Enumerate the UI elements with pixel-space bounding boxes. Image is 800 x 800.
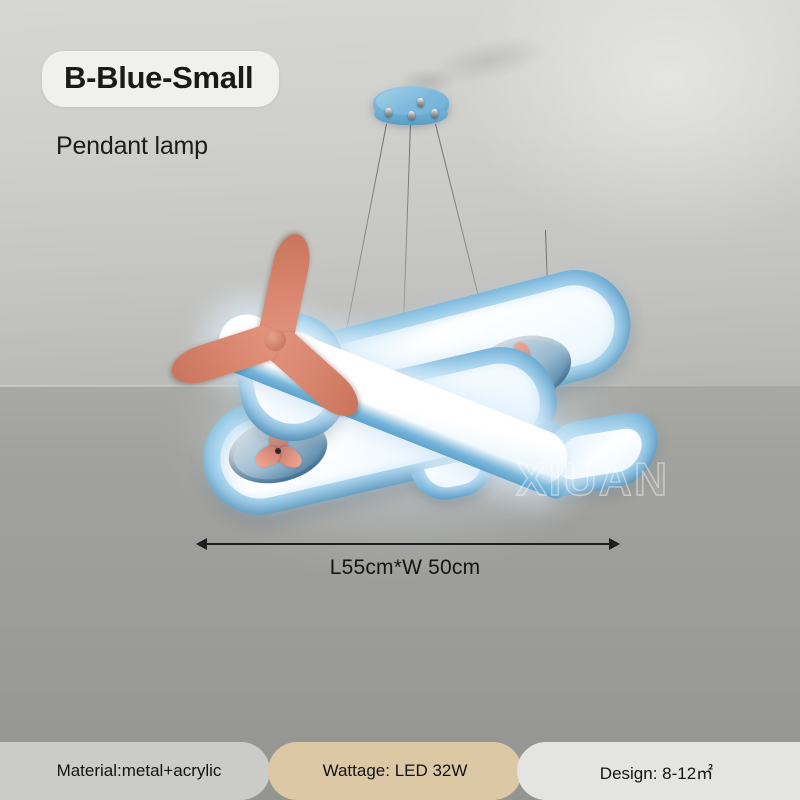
arrow-head-right-icon: [609, 538, 620, 550]
variant-badge-label: B-Blue-Small: [64, 60, 253, 95]
front-propeller-hub: [264, 329, 286, 351]
dimension-label-wrap: L55cm*W 50cm: [0, 556, 800, 580]
airplane-pendant-lamp: XIUAN: [0, 0, 800, 800]
brand-watermark: XIUAN: [516, 452, 669, 506]
spec-bar: Material:metal+acrylic Wattage: LED 32W …: [0, 742, 800, 800]
spec-material: Material:metal+acrylic: [0, 742, 270, 800]
dimension-line: [203, 543, 613, 545]
spec-design: Design: 8-12㎡: [517, 742, 800, 800]
product-type-label: Pendant lamp: [56, 132, 208, 161]
product-photo: XIUAN B-Blue-Small Pendant lamp L55cm*W …: [0, 0, 800, 800]
dimension-label: L55cm*W 50cm: [320, 556, 481, 580]
dimension-arrow: [196, 536, 620, 552]
spec-wattage: Wattage: LED 32W: [268, 742, 522, 800]
variant-badge: B-Blue-Small: [42, 51, 279, 107]
